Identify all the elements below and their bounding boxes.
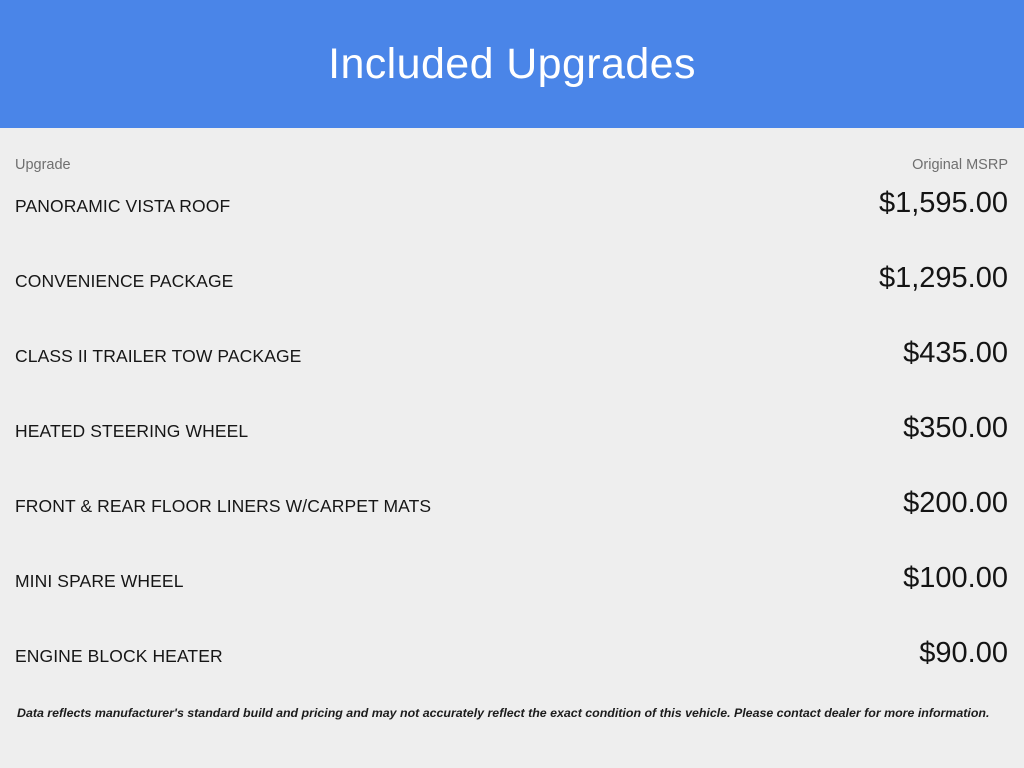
table-row: FRONT & REAR FLOOR LINERS W/CARPET MATS … xyxy=(15,489,1008,564)
table-row: PANORAMIC VISTA ROOF $1,595.00 xyxy=(15,189,1008,264)
upgrade-name: HEATED STEERING WHEEL xyxy=(15,423,248,441)
upgrade-name: FRONT & REAR FLOOR LINERS W/CARPET MATS xyxy=(15,498,431,516)
page-header-band: Included Upgrades xyxy=(0,0,1024,128)
table-row: MINI SPARE WHEEL $100.00 xyxy=(15,564,1008,639)
included-upgrades-page: Included Upgrades Upgrade Original MSRP … xyxy=(0,0,1024,768)
upgrade-msrp: $90.00 xyxy=(919,639,1008,668)
table-row: ENGINE BLOCK HEATER $90.00 xyxy=(15,639,1008,714)
upgrade-name: MINI SPARE WHEEL xyxy=(15,573,184,591)
table-row: HEATED STEERING WHEEL $350.00 xyxy=(15,414,1008,489)
table-rows: PANORAMIC VISTA ROOF $1,595.00 CONVENIEN… xyxy=(15,189,1008,714)
upgrade-name: PANORAMIC VISTA ROOF xyxy=(15,198,230,216)
page-title: Included Upgrades xyxy=(328,43,696,86)
table-row: CLASS II TRAILER TOW PACKAGE $435.00 xyxy=(15,339,1008,414)
upgrade-name: CLASS II TRAILER TOW PACKAGE xyxy=(15,348,301,366)
upgrade-msrp: $1,595.00 xyxy=(879,189,1008,218)
upgrades-table: Upgrade Original MSRP PANORAMIC VISTA RO… xyxy=(0,128,1024,713)
upgrade-msrp: $435.00 xyxy=(903,339,1008,368)
upgrade-name: ENGINE BLOCK HEATER xyxy=(15,648,223,666)
column-header-upgrade: Upgrade xyxy=(15,158,71,173)
upgrade-msrp: $350.00 xyxy=(903,414,1008,443)
upgrade-msrp: $100.00 xyxy=(903,564,1008,593)
disclaimer-text: Data reflects manufacturer's standard bu… xyxy=(0,705,1024,722)
upgrade-name: CONVENIENCE PACKAGE xyxy=(15,273,233,291)
upgrade-msrp: $1,295.00 xyxy=(879,264,1008,293)
table-row: CONVENIENCE PACKAGE $1,295.00 xyxy=(15,264,1008,339)
table-column-headers: Upgrade Original MSRP xyxy=(15,128,1008,178)
upgrade-msrp: $200.00 xyxy=(903,489,1008,518)
column-header-original-msrp: Original MSRP xyxy=(912,158,1008,173)
